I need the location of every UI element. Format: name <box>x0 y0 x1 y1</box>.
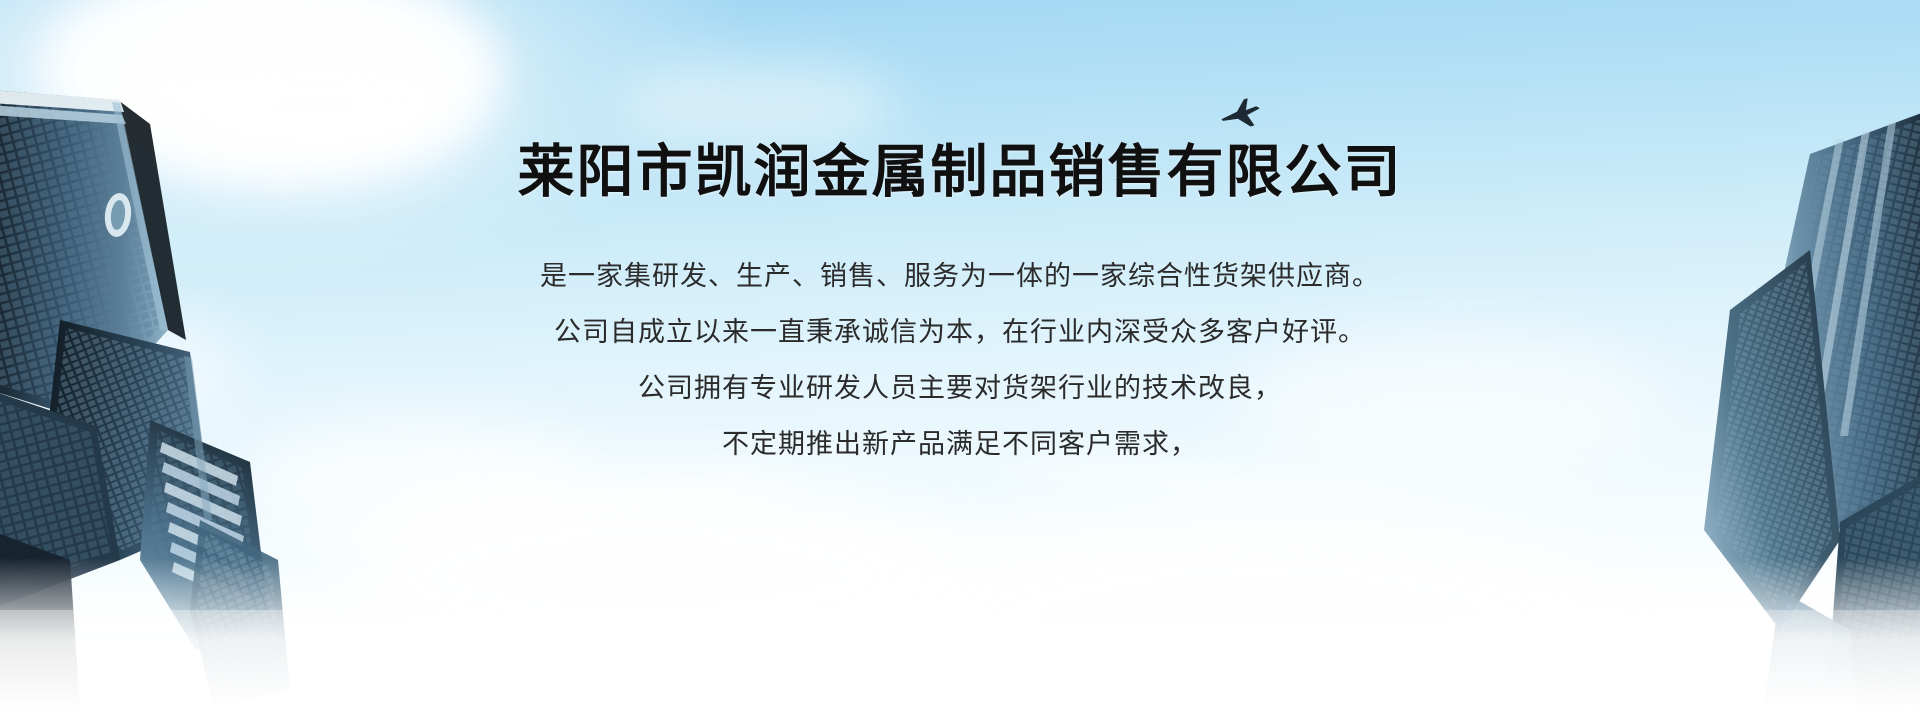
cloud-wisp <box>620 60 900 150</box>
cloud-streak <box>430 523 1050 588</box>
company-description: 是一家集研发、生产、销售、服务为一体的一家综合性货架供应商。 公司自成立以来一直… <box>0 248 1920 472</box>
cloud-wisp <box>340 470 960 680</box>
description-line-1: 是一家集研发、生产、销售、服务为一体的一家综合性货架供应商。 <box>0 248 1920 304</box>
description-line-4: 不定期推出新产品满足不同客户需求， <box>0 416 1920 472</box>
company-hero-banner: 莱阳市凯润金属制品销售有限公司 是一家集研发、生产、销售、服务为一体的一家综合性… <box>0 0 1920 708</box>
airplane-icon <box>1218 98 1262 132</box>
description-line-3: 公司拥有专业研发人员主要对货架行业的技术改良， <box>0 360 1920 416</box>
cloud-streak <box>280 468 799 557</box>
cloud-wisp <box>900 500 1620 708</box>
page-title: 莱阳市凯润金属制品销售有限公司 <box>0 138 1920 206</box>
description-line-2: 公司自成立以来一直秉承诚信为本，在行业内深受众多客户好评。 <box>0 304 1920 360</box>
